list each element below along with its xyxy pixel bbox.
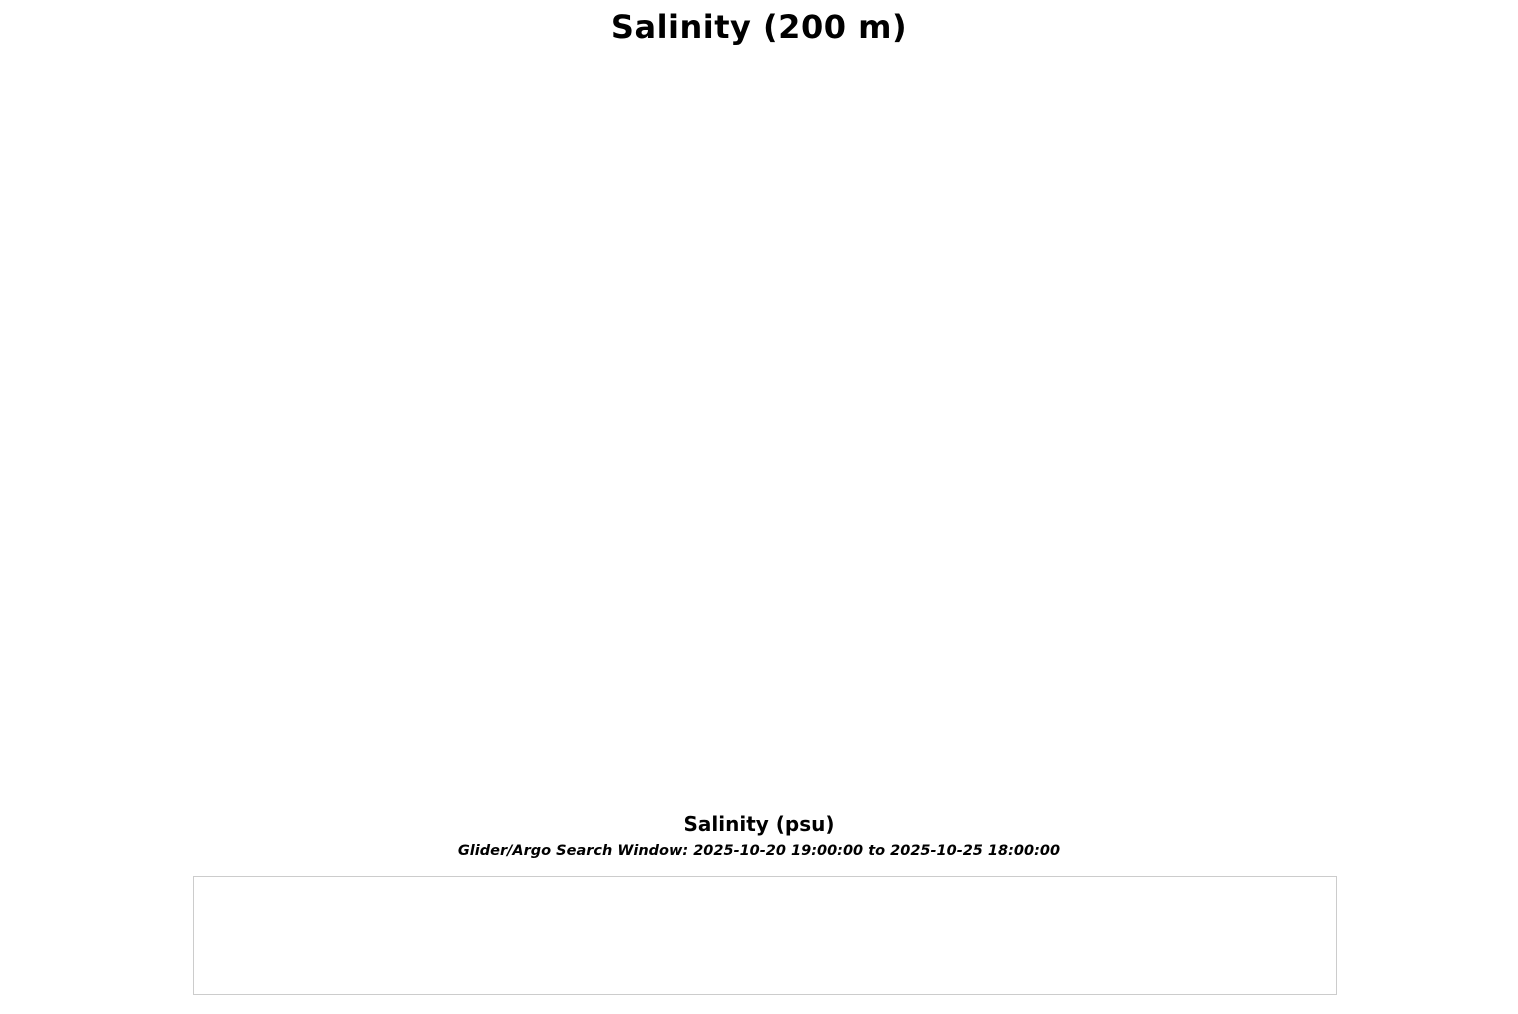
platform-legend bbox=[193, 876, 1337, 995]
colorbar bbox=[85, 764, 1435, 788]
search-window-text: Glider/Argo Search Window: 2025-10-20 19… bbox=[0, 843, 1518, 859]
page-title: Salinity (200 m) bbox=[0, 8, 1518, 46]
colorbar-label: Salinity (psu) bbox=[0, 812, 1518, 836]
